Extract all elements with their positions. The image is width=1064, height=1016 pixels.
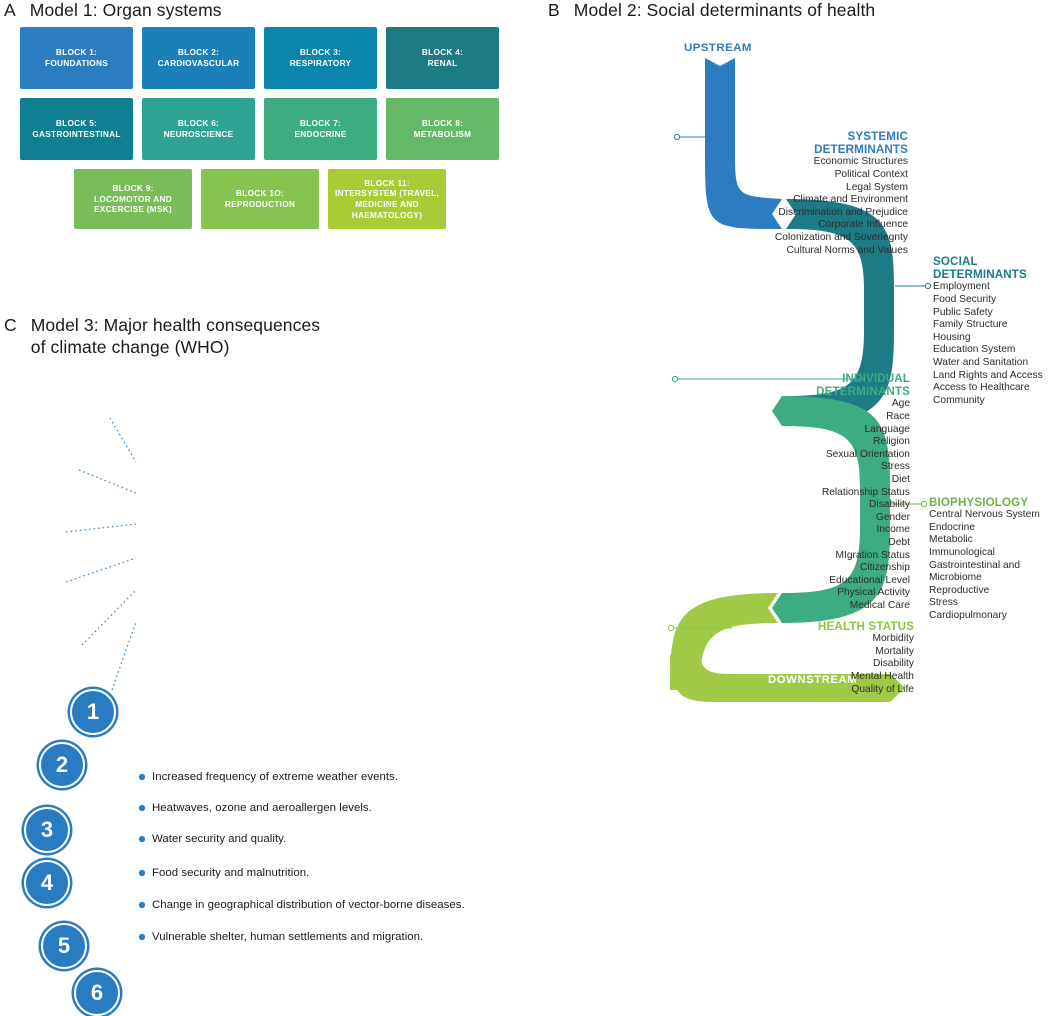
group-item: Metabolic	[929, 534, 1064, 547]
consequence-bullet-icon	[139, 870, 145, 876]
upstream-label: UPSTREAM	[684, 42, 752, 54]
group-item: Medical Care	[816, 600, 910, 613]
consequence-text: Increased frequency of extreme weather e…	[152, 771, 398, 783]
group-item: Cultural Norms and Values	[775, 245, 908, 258]
panel-c-title: C Model 3: Major health consequencesof c…	[4, 315, 320, 358]
organ-system-block[interactable]: BLOCK 5:GASTROINTESTINAL	[20, 98, 133, 160]
connector-biophysiology-endpoint-icon	[921, 501, 926, 506]
group-item: Public Safety	[933, 307, 1043, 320]
group-item: Mental Health	[818, 671, 914, 684]
panel-a-letter: A	[4, 0, 16, 21]
group-item: Economic Structures	[775, 156, 908, 169]
group-item: Debt	[816, 537, 910, 550]
leader-line	[112, 622, 136, 690]
group-item: Education System	[933, 344, 1043, 357]
panel-a-title: A Model 1: Organ systems	[4, 0, 222, 22]
consequence-number-circle[interactable]: 6	[74, 970, 120, 1016]
group-item: Family Structure	[933, 319, 1043, 332]
group-item: Income	[816, 524, 910, 537]
group-item: Relationship Status	[816, 487, 910, 500]
group-item: Legal System	[775, 182, 908, 195]
group-item: Sexual Orientation	[816, 449, 910, 462]
panel-a-organ-systems: A Model 1: Organ systems BLOCK 1:FOUNDAT…	[0, 0, 520, 300]
group-item: Disability	[816, 499, 910, 512]
determinant-group-social: SOCIALDETERMINANTSEmploymentFood Securit…	[933, 255, 1043, 407]
group-heading: SYSTEMICDETERMINANTS	[775, 130, 908, 156]
group-item: Mortality	[818, 646, 914, 659]
group-item: Age	[816, 398, 910, 411]
group-item: Physical Activity	[816, 587, 910, 600]
consequence-number-circle[interactable]: 5	[41, 923, 87, 969]
group-item: Access to Healthcare	[933, 382, 1043, 395]
panel-c-health-consequences: C Model 3: Major health consequencesof c…	[0, 315, 540, 702]
determinant-group-health_status: HEALTH STATUSMorbidityMortalityDisabilit…	[818, 620, 914, 696]
consequence-text: Vulnerable shelter, human settlements an…	[152, 931, 423, 943]
group-item: Political Context	[775, 169, 908, 182]
organ-system-block[interactable]: BLOCK 8:METABOLISM	[386, 98, 499, 160]
organ-system-block[interactable]: BLOCK 11:INTERSYSTEM (TRAVEL,MEDICINE AN…	[328, 169, 446, 229]
consequence-text: Water security and quality.	[152, 833, 286, 845]
block-row: BLOCK 5:GASTROINTESTINALBLOCK 6:NEUROSCI…	[20, 98, 500, 160]
group-item: Colonization and Soveriegnty	[775, 232, 908, 245]
consequence-text: Food security and malnutrition.	[152, 867, 309, 879]
organ-system-block[interactable]: BLOCK 1:FOUNDATIONS	[20, 27, 133, 89]
group-item: Cardiopulmonary	[929, 610, 1064, 623]
organ-system-block[interactable]: BLOCK 9:LOCOMOTOR ANDEXCERCISE (MSK)	[74, 169, 192, 229]
group-item: Gender	[816, 512, 910, 525]
consequence-bullet-icon	[139, 902, 145, 908]
group-item: MIgration Status	[816, 550, 910, 563]
group-item: Corporate Influence	[775, 219, 908, 232]
leader-line	[110, 418, 136, 462]
consequence-number-circle[interactable]: 4	[24, 860, 70, 906]
group-item: Language	[816, 424, 910, 437]
organ-system-block[interactable]: BLOCK 7:ENDOCRINE	[264, 98, 377, 160]
organ-system-block[interactable]: BLOCK 2:CARDIOVASCULAR	[142, 27, 255, 89]
consequence-bullet-icon	[139, 934, 145, 940]
group-heading: SOCIALDETERMINANTS	[933, 255, 1043, 281]
leader-line	[66, 524, 136, 532]
consequence-text: Heatwaves, ozone and aeroallergen levels…	[152, 802, 372, 814]
leader-line	[66, 558, 136, 582]
organ-system-block[interactable]: BLOCK 3:RESPIRATORY	[264, 27, 377, 89]
consequence-text: Change in geographical distribution of v…	[152, 899, 465, 911]
organ-systems-block-grid: BLOCK 1:FOUNDATIONSBLOCK 2:CARDIOVASCULA…	[20, 27, 500, 238]
group-item: Stress	[816, 461, 910, 474]
consequence-bullet-icon	[139, 836, 145, 842]
group-item: Quality of Life	[818, 684, 914, 697]
group-item: Race	[816, 411, 910, 424]
group-item: Land Rights and Access	[933, 370, 1043, 383]
group-item: Citizenship	[816, 562, 910, 575]
group-item: Discrimination and Prejudice	[775, 207, 908, 220]
organ-system-block[interactable]: BLOCK 1O:REPRODUCTION	[201, 169, 319, 229]
group-item: Employment	[933, 281, 1043, 294]
group-item: Food Security	[933, 294, 1043, 307]
group-heading: BIOPHYSIOLOGY	[929, 496, 1064, 509]
panel-b-social-determinants: B Model 2: Social determinants of health…	[520, 0, 1064, 702]
determinant-group-biophysiology: BIOPHYSIOLOGYCentral Nervous SystemEndoc…	[929, 496, 1064, 623]
consequence-number-circle[interactable]: 1	[70, 689, 116, 735]
group-item: Climate and Environment	[775, 194, 908, 207]
connector-social-endpoint-icon	[925, 283, 930, 288]
group-item: Community	[933, 395, 1043, 408]
connector-health-status-endpoint-icon	[668, 625, 673, 630]
group-item: Diet	[816, 474, 910, 487]
panel-c-letter: C	[4, 315, 17, 336]
group-heading: INDIVIDUALDETERMINANTS	[816, 372, 910, 398]
panel-c-leader-lines	[0, 315, 540, 702]
panel-a-title-text: Model 1: Organ systems	[30, 0, 222, 22]
block-row: BLOCK 9:LOCOMOTOR ANDEXCERCISE (MSK)BLOC…	[20, 169, 500, 229]
organ-system-block[interactable]: BLOCK 6:NEUROSCIENCE	[142, 98, 255, 160]
group-item: Stress	[929, 597, 1064, 610]
group-item: Central Nervous System	[929, 509, 1064, 522]
consequence-bullet-icon	[139, 805, 145, 811]
connector-individual-endpoint-icon	[672, 376, 677, 381]
block-row: BLOCK 1:FOUNDATIONSBLOCK 2:CARDIOVASCULA…	[20, 27, 500, 89]
group-item: Water and Sanitation	[933, 357, 1043, 370]
connector-systemic-endpoint-icon	[674, 134, 679, 139]
group-item: Disability	[818, 658, 914, 671]
determinant-group-individual: INDIVIDUALDETERMINANTSAgeRaceLanguageRel…	[816, 372, 910, 613]
panel-c-title-text: Model 3: Major health consequencesof cli…	[31, 315, 320, 358]
group-item: Educational Level	[816, 575, 910, 588]
group-item: Morbidity	[818, 633, 914, 646]
consequence-number-circle[interactable]: 2	[39, 742, 85, 788]
group-item: Religion	[816, 436, 910, 449]
determinant-group-systemic: SYSTEMICDETERMINANTSEconomic StructuresP…	[775, 130, 908, 257]
consequence-number-circle[interactable]: 3	[24, 807, 70, 853]
leader-line	[79, 470, 136, 493]
group-item: Endocrine	[929, 522, 1064, 535]
consequence-bullet-icon	[139, 774, 145, 780]
organ-system-block[interactable]: BLOCK 4:RENAL	[386, 27, 499, 89]
group-item: Housing	[933, 332, 1043, 345]
group-item: Gastrointestinal and Microbiome	[929, 560, 1064, 585]
leader-line	[82, 590, 136, 645]
group-item: Reproductive	[929, 585, 1064, 598]
group-item: Immunological	[929, 547, 1064, 560]
ribbon-segment-systemic	[705, 58, 782, 229]
group-heading: HEALTH STATUS	[818, 620, 914, 633]
